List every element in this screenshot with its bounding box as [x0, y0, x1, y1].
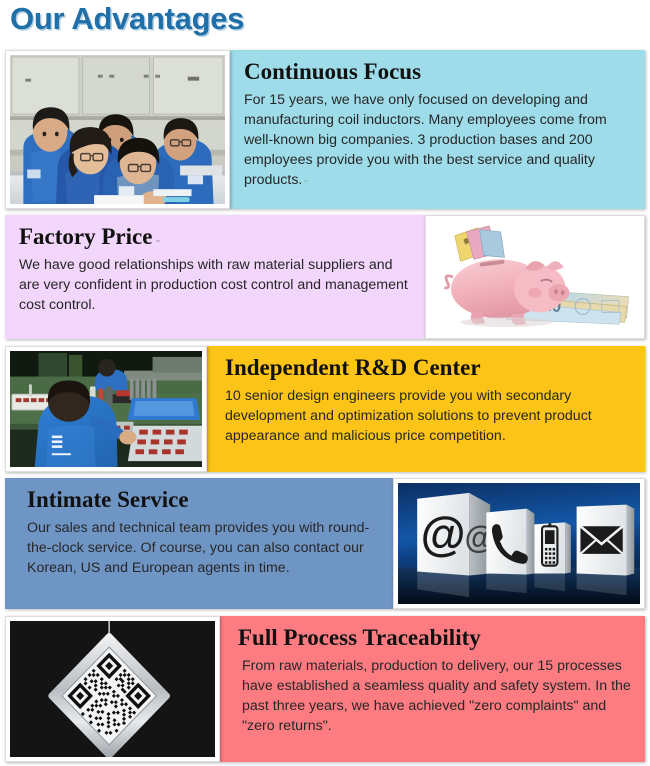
trailing-mark-icon: ⌄	[302, 175, 309, 184]
advantage-panel-factory-price: Factory Price⌄ We have good relationship…	[5, 215, 425, 339]
advantage-panel-full-process-traceability: Full Process Traceability From raw mater…	[220, 616, 645, 762]
trailing-mark-icon: ⌄	[152, 235, 161, 244]
advantage-panel-continuous-focus: Continuous Focus For 15 years, we have o…	[230, 50, 645, 209]
advantage-body: For 15 years, we have only focused on de…	[244, 90, 631, 191]
rnd-workbench-illustration	[10, 351, 202, 467]
advantage-heading: Independent R&D Center	[225, 355, 631, 381]
factory-team-photo-frame	[10, 55, 225, 204]
advantage-body: From raw materials, production to delive…	[238, 656, 631, 737]
advantage-body: We have good relationships with raw mate…	[19, 255, 411, 315]
advantage-row-continuous-focus: Continuous Focus For 15 years, we have o…	[5, 50, 645, 209]
advantage-row-intimate-service: @ @	[5, 478, 645, 609]
advantage-body: Our sales and technical team provides yo…	[27, 518, 379, 578]
advantage-row-rnd-center: Independent R&D Center 10 senior design …	[5, 346, 645, 472]
advantages-infographic: Our Advantages	[0, 0, 650, 766]
factory-team-illustration	[10, 55, 225, 204]
qr-code-pendant-illustration	[10, 621, 215, 757]
advantage-row-full-process-traceability: Full Process Traceability From raw mater…	[5, 616, 645, 762]
advantage-row-factory-price: 20	[5, 215, 645, 339]
contact-icons-photo: @ @	[393, 478, 645, 609]
page-title: Our Advantages	[10, 1, 244, 37]
factory-team-photo	[5, 50, 230, 209]
advantage-heading: Full Process Traceability	[238, 625, 631, 651]
rnd-workbench-photo	[5, 346, 207, 472]
advantage-heading: Factory Price⌄	[19, 224, 411, 250]
advantage-panel-intimate-service: Intimate Service Our sales and technical…	[5, 478, 393, 609]
piggy-bank-money-photo: 20	[425, 215, 645, 339]
advantage-heading: Intimate Service	[27, 487, 379, 513]
advantage-heading: Continuous Focus	[244, 59, 631, 85]
piggy-bank-photo-frame: 20	[430, 220, 640, 334]
advantage-body: 10 senior design engineers provide you w…	[225, 386, 631, 446]
advantage-panel-rnd-center: Independent R&D Center 10 senior design …	[207, 346, 645, 472]
qr-code-photo-frame	[10, 621, 215, 757]
contact-icons-illustration: @ @	[398, 483, 640, 604]
piggy-bank-illustration: 20	[430, 220, 640, 334]
rnd-workbench-photo-frame	[10, 351, 202, 467]
contact-icons-photo-frame: @ @	[398, 483, 640, 604]
svg-text:@: @	[421, 507, 466, 560]
qr-code-pendant-photo	[5, 616, 220, 762]
